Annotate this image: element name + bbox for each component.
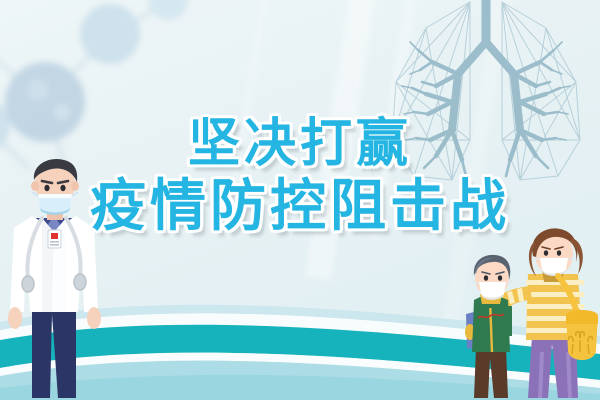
- light-streak-icon: [230, 0, 277, 199]
- poster-canvas: 坚决打赢 疫情防控阻击战 分子结构 肺部低多边形图 医生 妈妈 男孩: [0, 0, 600, 400]
- family-figure: [462, 228, 600, 400]
- doctor-figure: [2, 152, 110, 400]
- lungs-wireframe-icon: [366, 0, 600, 200]
